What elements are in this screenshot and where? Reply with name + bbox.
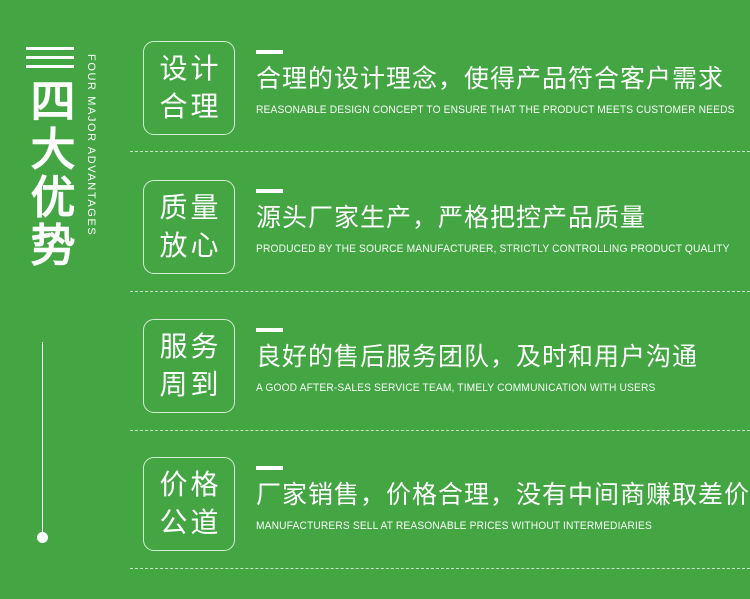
page-title-char-3: 优 [24, 174, 82, 222]
page-title-char-4: 势 [24, 222, 82, 270]
advantage-headline: 良好的售后服务团队，及时和用户沟通 [256, 341, 750, 374]
card-divider [130, 568, 750, 569]
advantage-badge: 质量 放心 [143, 180, 235, 274]
advantage-content: 源头厂家生产，严格把控产品质量 PRODUCED BY THE SOURCE M… [256, 180, 750, 256]
advantage-badge-line-2: 合理 [156, 88, 221, 126]
card-divider [130, 430, 750, 431]
advantage-badge-line-1: 设计 [156, 50, 221, 88]
advantage-card: 价格 公道 厂家销售，价格合理，没有中间商赚取差价 MANUFACTURERS … [130, 443, 750, 582]
advantage-badge: 价格 公道 [143, 457, 235, 551]
advantage-badge: 服务 周到 [143, 319, 235, 413]
advantage-card: 质量 放心 源头厂家生产，严格把控产品质量 PRODUCED BY THE SO… [130, 166, 750, 305]
card-divider [130, 291, 750, 292]
dash-accent-icon [256, 466, 283, 470]
deco-line-3 [26, 65, 74, 68]
triple-line-decoration-icon [26, 47, 74, 69]
advantage-subline: A GOOD AFTER-SALES SERVICE TEAM, TIMELY … [256, 382, 715, 395]
advantage-content: 厂家销售，价格合理，没有中间商赚取差价 MANUFACTURERS SELL A… [256, 457, 750, 533]
advantage-headline: 厂家销售，价格合理，没有中间商赚取差价 [256, 479, 750, 512]
page-title-char-2: 大 [24, 126, 82, 174]
page-title-char-1: 四 [24, 78, 82, 126]
dash-accent-icon [256, 328, 283, 332]
dash-accent-icon [256, 50, 283, 54]
page-title: 四 大 优 势 [24, 78, 82, 271]
advantage-subline: PRODUCED BY THE SOURCE MANUFACTURER, STR… [256, 243, 715, 256]
advantage-card-list: 设计 合理 合理的设计理念，使得产品符合客户需求 REASONABLE DESI… [130, 0, 750, 599]
stem-end-dot-icon [37, 532, 48, 543]
advantage-badge-line-1: 价格 [156, 466, 221, 504]
advantage-card: 服务 周到 良好的售后服务团队，及时和用户沟通 A GOOD AFTER-SAL… [130, 305, 750, 444]
advantage-badge: 设计 合理 [143, 41, 235, 135]
card-divider [130, 151, 750, 152]
advantage-badge-line-2: 公道 [156, 504, 221, 542]
left-title-panel: 四 大 优 势 FOUR MAJOR ADVANTAGES [0, 0, 130, 599]
advantage-content: 良好的售后服务团队，及时和用户沟通 A GOOD AFTER-SALES SER… [256, 319, 750, 395]
advantage-badge-line-2: 放心 [156, 227, 221, 265]
page-subtitle-english: FOUR MAJOR ADVANTAGES [85, 54, 97, 236]
advantage-badge-line-1: 服务 [156, 328, 221, 366]
advantages-banner: 四 大 优 势 FOUR MAJOR ADVANTAGES 设计 合理 合理的设… [0, 0, 750, 599]
deco-line-1 [26, 47, 74, 50]
advantage-subline: MANUFACTURERS SELL AT REASONABLE PRICES … [256, 520, 715, 533]
dash-accent-icon [256, 189, 283, 193]
advantage-headline: 源头厂家生产，严格把控产品质量 [256, 202, 750, 235]
advantage-subline: REASONABLE DESIGN CONCEPT TO ENSURE THAT… [256, 104, 715, 117]
advantage-headline: 合理的设计理念，使得产品符合客户需求 [256, 63, 750, 96]
advantage-badge-line-1: 质量 [156, 189, 221, 227]
deco-line-2 [26, 56, 74, 59]
advantage-card: 设计 合理 合理的设计理念，使得产品符合客户需求 REASONABLE DESI… [130, 27, 750, 166]
vertical-stem-line [42, 342, 43, 536]
advantage-badge-line-2: 周到 [156, 366, 221, 404]
advantage-content: 合理的设计理念，使得产品符合客户需求 REASONABLE DESIGN CON… [256, 41, 750, 117]
